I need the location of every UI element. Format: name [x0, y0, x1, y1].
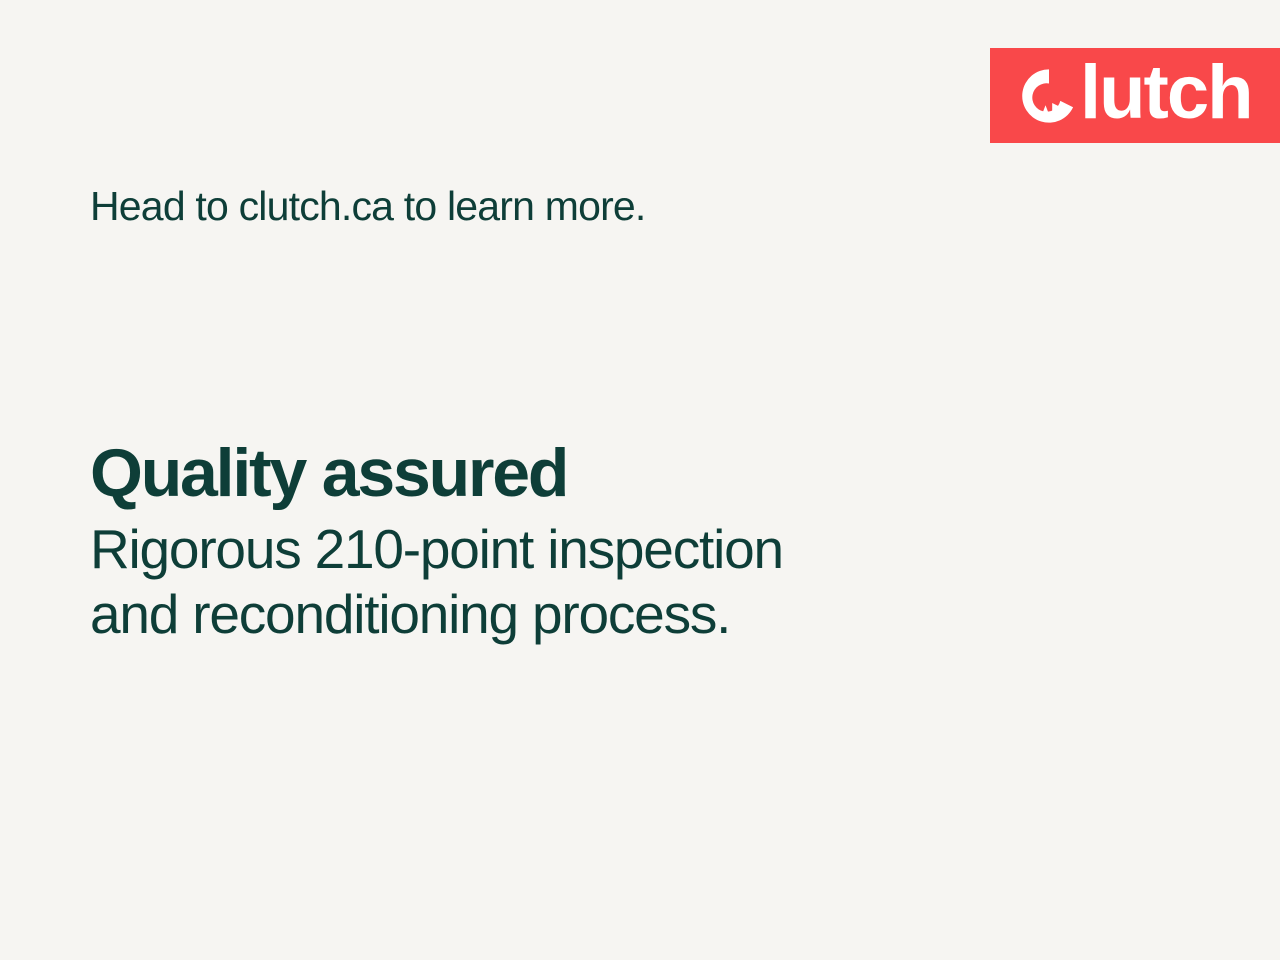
headline-block: Quality assured Rigorous 210-point inspe…: [90, 437, 990, 647]
page-title: Quality assured: [90, 437, 990, 509]
clutch-logo: lutch: [1020, 58, 1252, 134]
clutch-c-mark-icon: [1020, 67, 1078, 125]
brand-badge[interactable]: lutch: [990, 48, 1280, 143]
subheadline: Rigorous 210-point inspection and recond…: [90, 517, 990, 647]
slide-canvas: lutch Head to clutch.ca to learn more. Q…: [0, 0, 1280, 960]
clutch-wordmark: lutch: [1080, 55, 1252, 131]
cta-eyebrow-text: Head to clutch.ca to learn more.: [90, 183, 646, 230]
subheadline-line-1: Rigorous 210-point inspection: [90, 517, 990, 582]
subheadline-line-2: and reconditioning process.: [90, 582, 990, 647]
